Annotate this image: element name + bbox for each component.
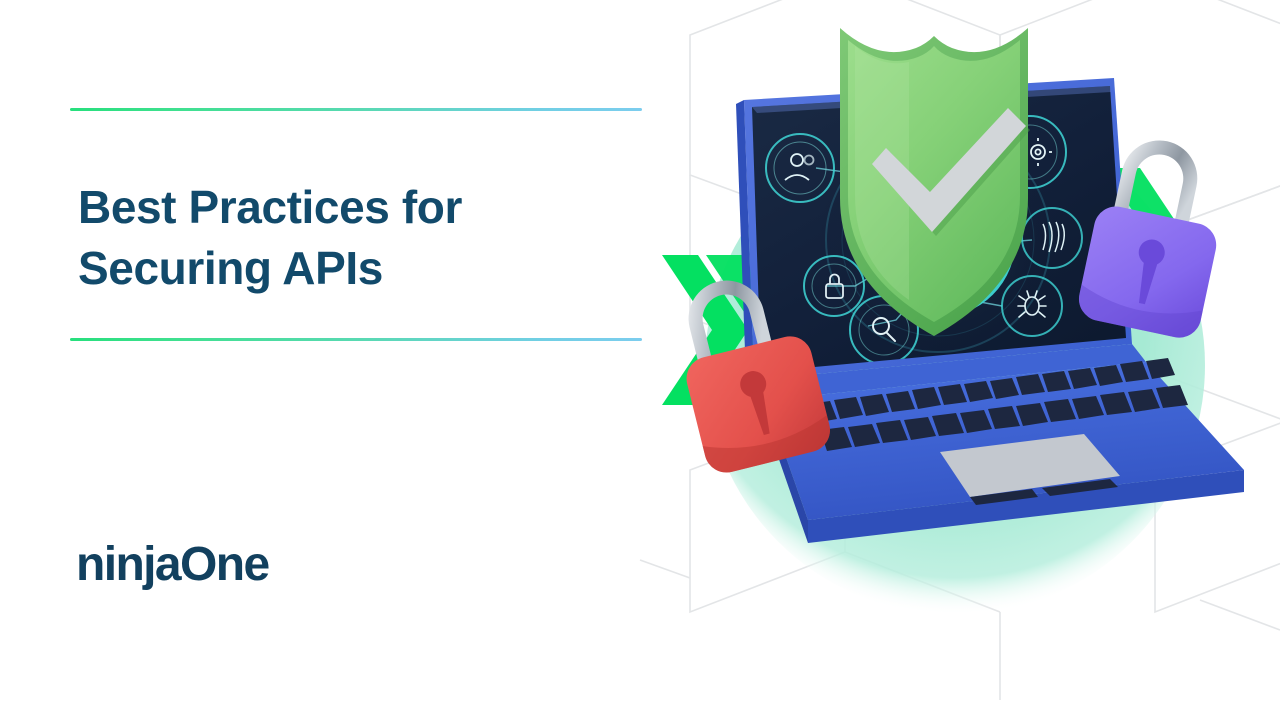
text-column: Best Practices for Securing APIs ninjaOn… [70, 0, 650, 720]
top-accent-rule [70, 108, 642, 111]
slide-canvas: Best Practices for Securing APIs ninjaOn… [0, 0, 1280, 720]
illustration: API [640, 0, 1280, 720]
ninjaone-logo: ninjaOne [76, 541, 269, 589]
page-title-line-2: Securing APIs [78, 238, 638, 299]
page-title-line-1: Best Practices for [78, 177, 638, 238]
bottom-accent-rule [70, 338, 642, 341]
page-title: Best Practices for Securing APIs [78, 177, 638, 299]
